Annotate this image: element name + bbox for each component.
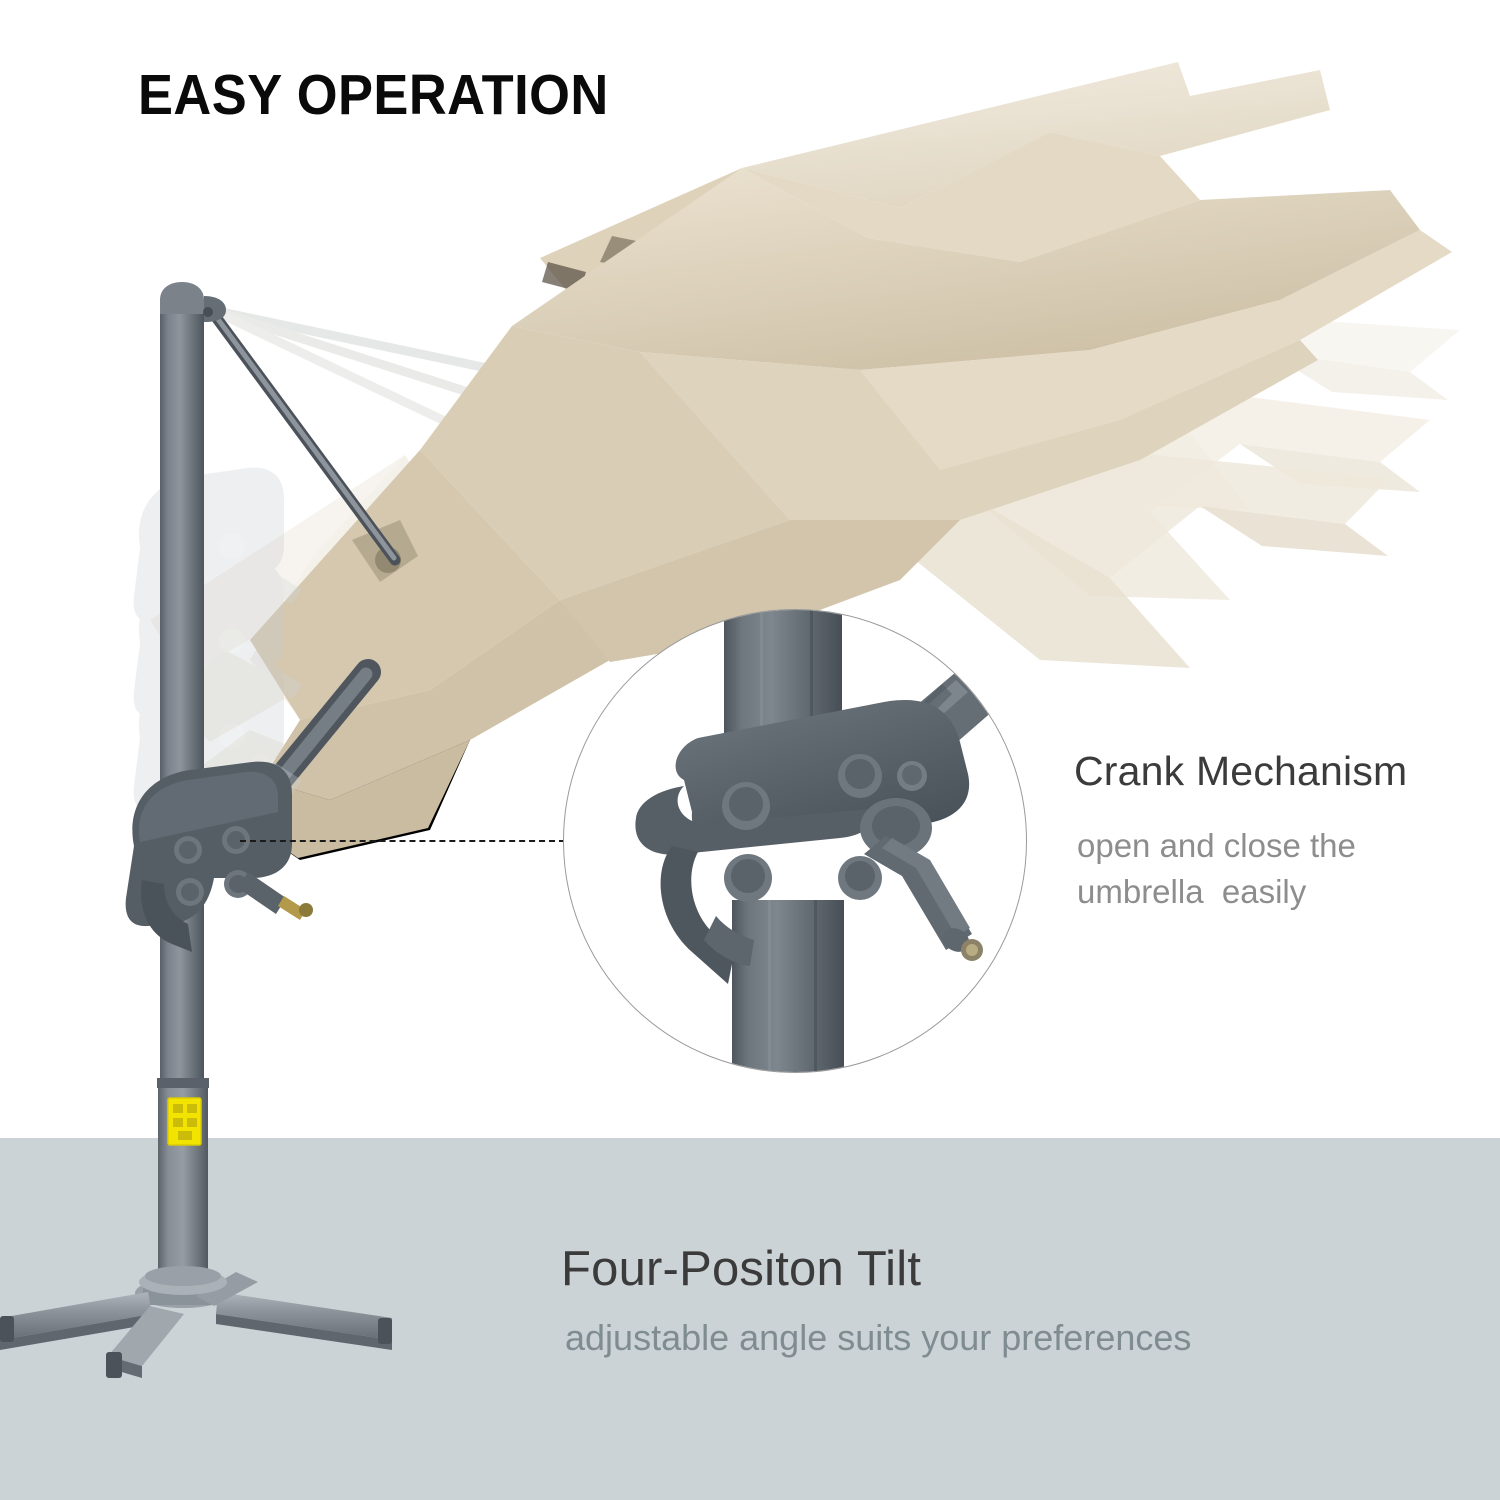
page-title: EASY OPERATION bbox=[138, 62, 609, 128]
marketing-image: EASY OPERATION Crank Mechanism open and … bbox=[0, 0, 1500, 1500]
feature-title: Four-Positon Tilt bbox=[561, 1241, 921, 1297]
warning-label bbox=[168, 1098, 201, 1145]
detail-housing-hook bbox=[661, 846, 734, 984]
umbrella-base bbox=[0, 1266, 392, 1378]
detail-pole-lower bbox=[732, 900, 844, 1072]
callout-leader-line bbox=[240, 840, 565, 842]
crank-detail-drawing bbox=[564, 610, 1026, 1072]
callout-subtitle: open and close the umbrella easily bbox=[1077, 823, 1356, 915]
crank-mechanism-main bbox=[126, 762, 313, 952]
crank-detail-callout bbox=[563, 609, 1027, 1073]
detail-crank-arm bbox=[864, 836, 983, 961]
feature-subtitle: adjustable angle suits your preferences bbox=[565, 1317, 1191, 1359]
pole-upper bbox=[160, 300, 204, 1090]
pole-cap bbox=[160, 282, 204, 314]
callout-title: Crank Mechanism bbox=[1074, 748, 1407, 795]
